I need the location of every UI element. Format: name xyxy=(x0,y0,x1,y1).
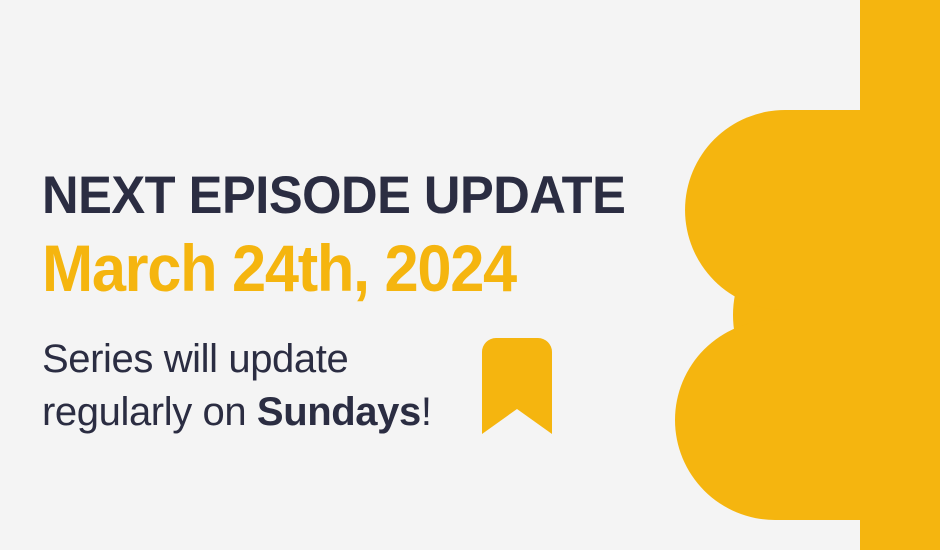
banner-text-block: NEXT EPISODE UPDATE March 24th, 2024 Ser… xyxy=(42,0,682,550)
next-episode-banner: NEXT EPISODE UPDATE March 24th, 2024 Ser… xyxy=(0,0,940,550)
schedule-note-prefix: regularly on xyxy=(42,390,257,434)
schedule-note-line-2: regularly on Sundays! xyxy=(42,386,432,439)
update-date: March 24th, 2024 xyxy=(42,232,516,304)
schedule-note-suffix: ! xyxy=(421,390,432,434)
schedule-note: Series will update regularly on Sundays! xyxy=(42,333,432,439)
schedule-note-line-1: Series will update xyxy=(42,333,432,386)
schedule-note-day: Sundays xyxy=(257,390,421,434)
bookmark-icon xyxy=(482,338,552,434)
page-title: NEXT EPISODE UPDATE xyxy=(42,168,625,224)
